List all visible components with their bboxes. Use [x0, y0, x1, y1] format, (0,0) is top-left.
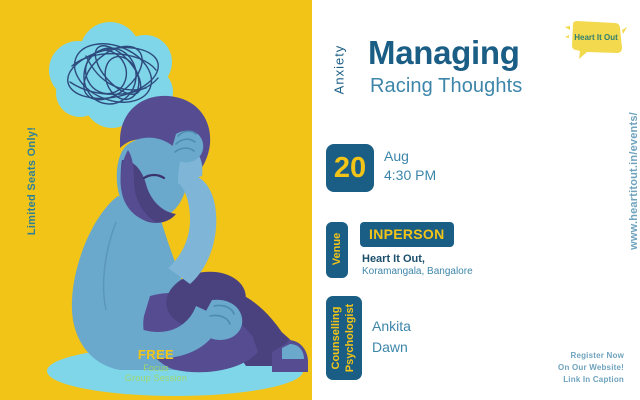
seated-man-figure	[72, 96, 308, 372]
date-month: Aug	[384, 147, 436, 166]
date-day: 20	[334, 154, 366, 183]
svg-text:Heart It Out: Heart It Out	[574, 33, 618, 42]
website-url[interactable]: www.heartitout.in/events/	[628, 91, 640, 271]
right-content-panel: Heart It Out Anxiety Managing Racing Tho…	[312, 0, 640, 400]
register-line-3: Link In Caption	[558, 374, 624, 386]
venue-tab-label: Venue	[331, 221, 343, 277]
venue-address: Koramangala, Bangalore	[362, 266, 473, 277]
left-yellow-panel: Limited Seats Only!	[0, 0, 312, 400]
venue-name: Heart It Out,	[362, 253, 425, 265]
title-kicker: Anxiety	[332, 38, 347, 102]
register-line-2: On Our Website!	[558, 362, 624, 374]
register-line-1: Register Now	[558, 350, 624, 362]
venue-tab: Venue	[326, 222, 348, 278]
speaker-last-name: Dawn	[372, 337, 411, 358]
speaker-name: Ankita Dawn	[372, 316, 411, 358]
date-time: 4:30 PM	[384, 166, 436, 185]
event-poster: Limited Seats Only!	[0, 0, 640, 400]
speaker-first-name: Ankita	[372, 316, 411, 337]
date-badge: 20	[326, 144, 374, 192]
page-subtitle: Racing Thoughts	[370, 76, 522, 96]
venue-mode-badge: INPERSON	[360, 222, 454, 247]
speaker-role-line-2: Psychologist	[344, 296, 356, 380]
title-block: Anxiety Managing Racing Thoughts	[320, 30, 580, 122]
anxiety-illustration	[0, 0, 312, 400]
register-note: Register Now On Our Website! Link In Cap…	[558, 350, 624, 386]
speaker-role-tab: Counselling Psychologist	[326, 296, 362, 380]
page-title: Managing	[368, 36, 520, 69]
date-details: Aug 4:30 PM	[384, 147, 436, 185]
speaker-role-line-1: Counselling	[330, 296, 342, 380]
